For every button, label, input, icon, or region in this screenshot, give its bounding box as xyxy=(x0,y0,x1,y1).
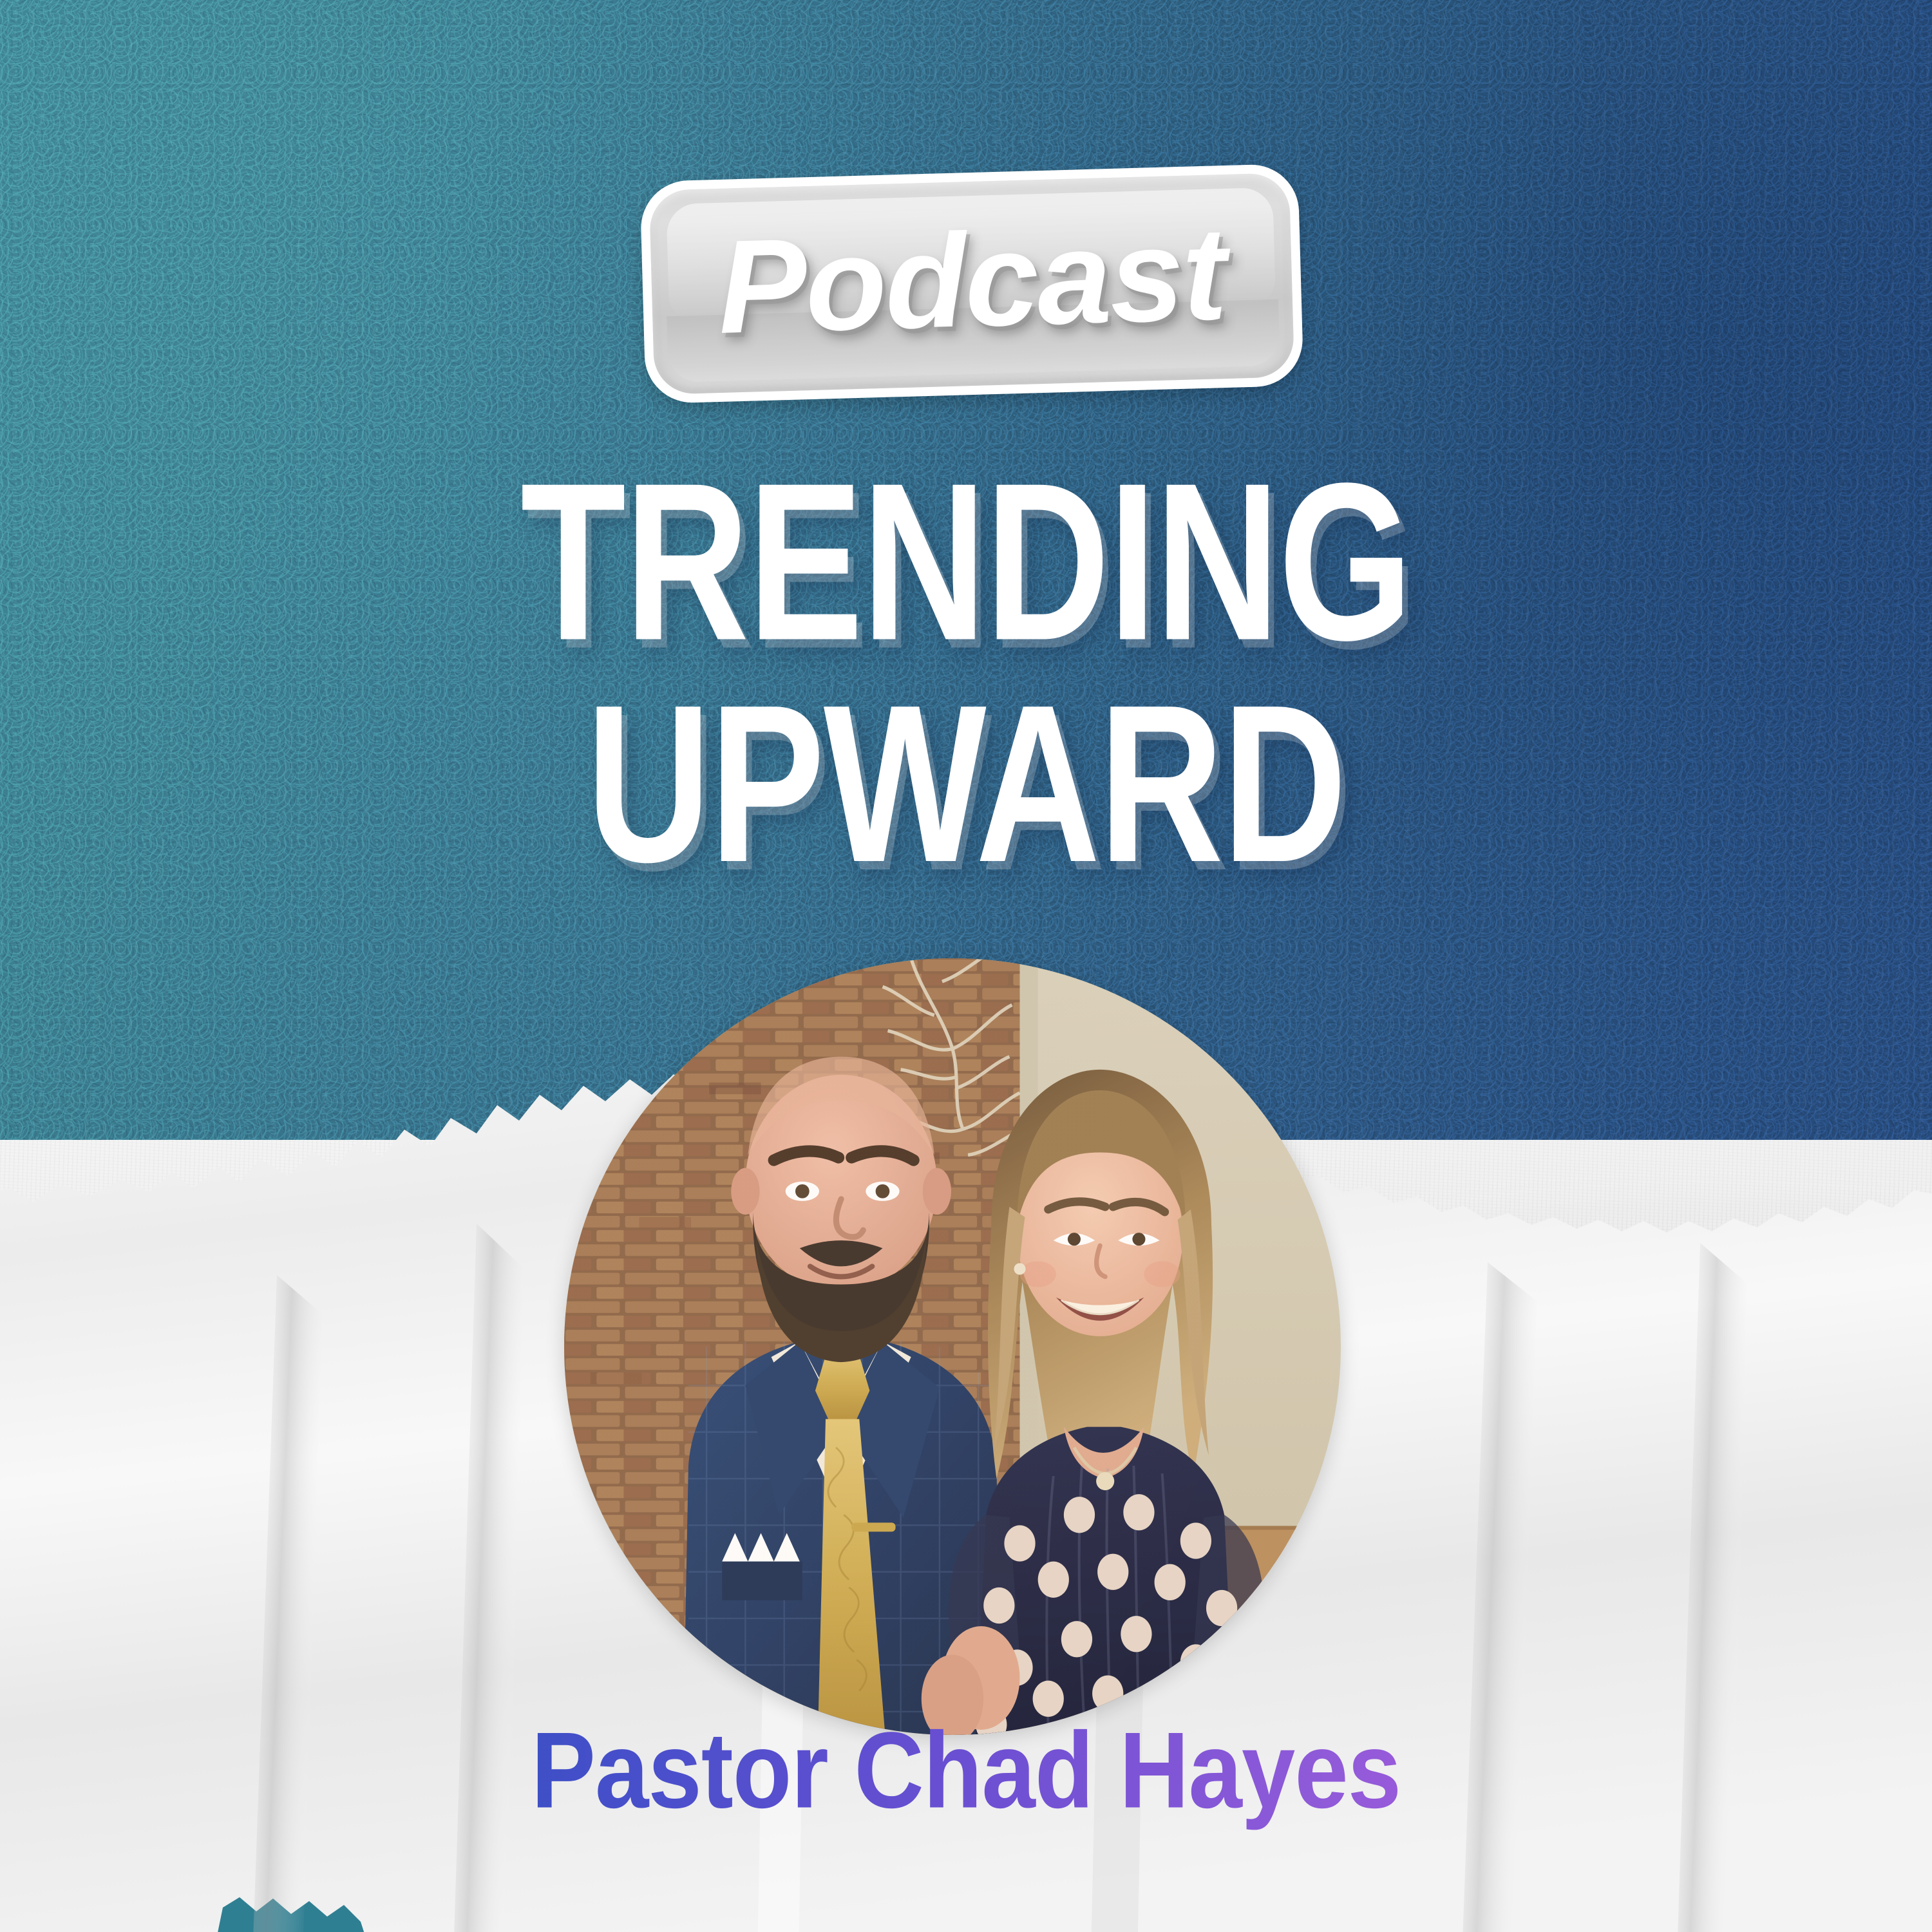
podcast-cover-art: Podcast TRENDING UPWARD xyxy=(0,0,1932,1932)
host-name: Pastor Chad Hayes xyxy=(0,1708,1932,1833)
podcast-badge-label: Podcast xyxy=(639,164,1303,404)
host-photo xyxy=(564,958,1341,1735)
podcast-badge: Podcast xyxy=(639,164,1303,404)
page-title: TRENDING UPWARD xyxy=(0,451,1932,895)
host-photo-illustration xyxy=(564,958,1341,1735)
